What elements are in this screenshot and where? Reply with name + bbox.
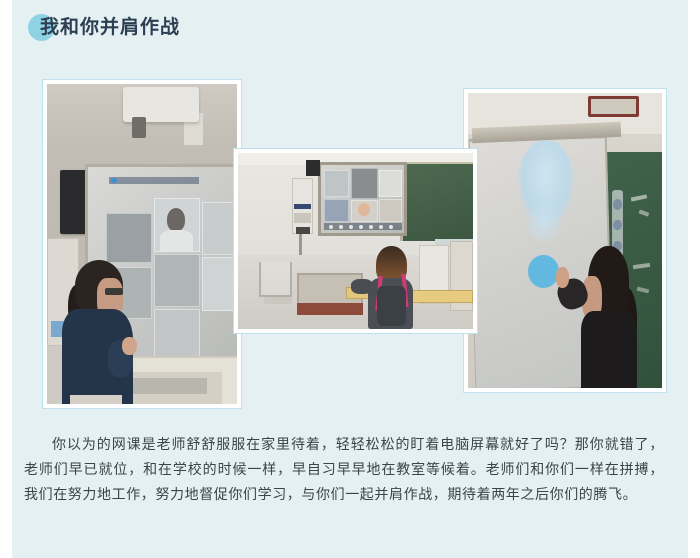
participant-head <box>167 208 185 231</box>
toolbar-icon <box>339 225 342 229</box>
wall-plaque <box>588 96 638 117</box>
metal-stand <box>259 262 292 297</box>
video-tile <box>154 309 200 359</box>
teacher-figure <box>577 246 643 388</box>
video-tile <box>324 199 349 222</box>
arm <box>351 279 373 294</box>
toolbar-icon <box>369 225 372 229</box>
toolbar-icon <box>613 220 622 231</box>
toolbar-icon <box>329 225 332 229</box>
video-tile <box>379 170 401 197</box>
podium-base <box>297 303 363 315</box>
toolbar-icon <box>379 225 382 229</box>
wall-speaker-icon <box>306 160 320 176</box>
teacher-figure <box>57 260 141 404</box>
desk <box>412 290 473 302</box>
video-tile <box>324 170 349 197</box>
hand <box>556 267 569 288</box>
backpack <box>377 286 406 326</box>
video-tile <box>154 198 200 252</box>
control-panel-button <box>294 213 310 224</box>
toolbar-icon <box>613 199 622 210</box>
video-tile <box>202 202 237 256</box>
video-tile <box>154 254 200 308</box>
blackboard <box>400 162 473 241</box>
toolbar-icon <box>349 225 352 229</box>
page-root: 我和你并肩作战 <box>0 0 700 558</box>
control-panel-display <box>294 204 310 209</box>
photo-frame-right[interactable] <box>463 88 667 393</box>
screen-badge-icon <box>528 255 559 287</box>
screen-graphic-secondary <box>524 199 563 246</box>
photo-middle <box>238 153 473 329</box>
glasses-icon <box>105 288 123 296</box>
toolbar-icon <box>359 225 362 229</box>
toolbar-icon <box>389 225 392 229</box>
photo-left <box>47 84 237 404</box>
page-title-block: 我和你并肩作战 <box>20 10 420 50</box>
stand-base <box>264 297 292 304</box>
participant-face <box>358 203 370 217</box>
video-tile <box>351 168 378 199</box>
video-tile <box>379 199 401 222</box>
photo-frame-left[interactable] <box>42 79 242 409</box>
video-call-titlebar <box>109 177 199 185</box>
participant-torso <box>160 230 193 252</box>
content-panel: 我和你并肩作战 <box>12 0 688 558</box>
hand <box>122 337 137 355</box>
torso <box>581 311 638 388</box>
article-paragraph: 你以为的网课是老师舒舒服服在家里待着，轻轻松松的盯着电脑屏幕就好了吗？那你就错了… <box>24 432 664 507</box>
projection-screen <box>318 162 407 236</box>
student-figure <box>365 246 417 329</box>
video-tile <box>106 213 152 263</box>
page-title: 我和你并肩作战 <box>40 17 180 39</box>
control-panel-socket <box>296 227 310 234</box>
legs <box>70 395 122 404</box>
video-tile <box>202 257 237 311</box>
photo-right <box>468 93 662 388</box>
photo-frame-middle[interactable] <box>233 148 478 334</box>
ceiling-projector-icon <box>123 87 199 122</box>
